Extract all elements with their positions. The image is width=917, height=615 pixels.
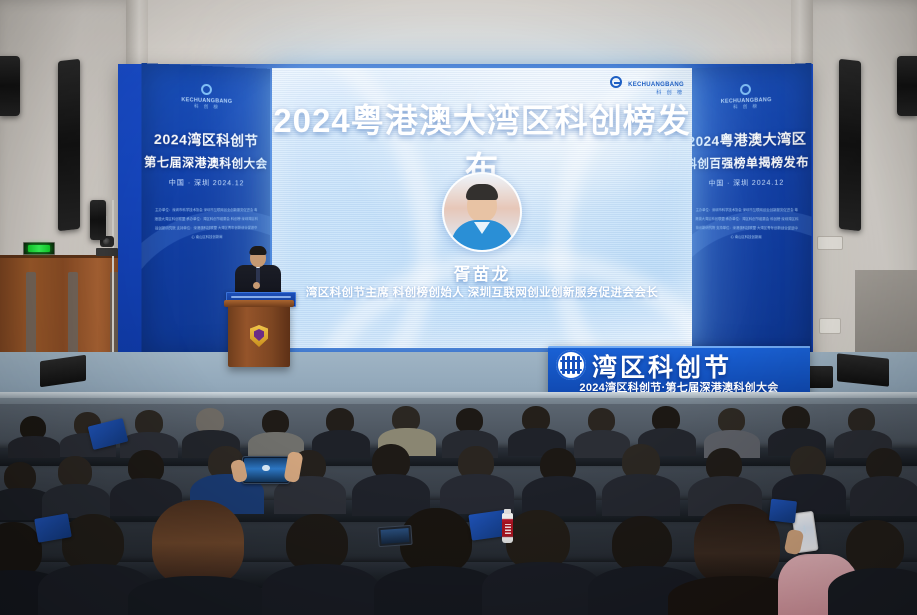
audience-head-front (506, 510, 570, 570)
audience-shoulders-front (828, 568, 917, 615)
pa-speaker-right (839, 59, 861, 231)
audience-head-front-long-hair (152, 500, 244, 586)
left-banner-fine-print: 主办单位：深圳市科学技术协会 深圳市互联网创业创新服务促进会 粤港澳大湾区科创联… (154, 206, 259, 242)
speaker-hair (250, 246, 267, 255)
audience-shoulders-front (482, 562, 602, 615)
right-banner-fine-print: 主办单位：深圳市科学技术协会 深圳市互联网创业创新服务促进会 粤港澳大湾区科创联… (695, 206, 800, 242)
stage-logo-banner: 湾区科创节 2024湾区科创节·第七届深港澳科创大会 (548, 346, 810, 398)
exit-sign-glow (28, 245, 50, 252)
screen-speaker-name: 胥苗龙 (272, 260, 692, 285)
logo-bar (577, 356, 580, 374)
podium-top (224, 300, 294, 307)
audience-shoulders (602, 474, 680, 516)
audience-shoulders (8, 436, 60, 458)
pa-speaker-corner-right (897, 56, 917, 116)
audience-head-front-long-hair (694, 504, 780, 586)
logo-crossbar (560, 360, 582, 362)
audience-shoulders-front (262, 564, 380, 615)
screen-logo-latin: KECHUANGBANG (628, 82, 684, 88)
right-banner-logo: KECHUANGBANG 科 创 榜 (683, 77, 811, 112)
institution-crest-icon (250, 325, 268, 347)
left-banner-line3: 中国 · 深圳 2024.12 (141, 177, 269, 188)
blue-folder-right[interactable] (769, 499, 797, 524)
kechuangbang-mark-icon (610, 76, 622, 88)
speaker-hand (253, 282, 260, 289)
left-banner-line2: 第七届深港澳科创大会 (141, 153, 269, 172)
smartphone-camera[interactable] (242, 456, 290, 484)
phone-screen (244, 458, 288, 482)
left-banner-logo: KECHUANGBANG 科 创 榜 (141, 77, 269, 112)
emergency-exit-sign (23, 242, 55, 255)
pa-speaker-corner-left (0, 56, 20, 116)
audience-shoulders (850, 476, 917, 516)
audience-head-front (846, 520, 904, 574)
audience-head-front (612, 516, 672, 572)
right-banner: KECHUANGBANG 科 创 榜 2024粤港澳大湾区 科创百强榜单揭榜发布… (683, 63, 811, 359)
right-banner-line3: 中国 · 深圳 2024.12 (683, 177, 811, 188)
wall-switch-plate-right[interactable] (819, 318, 841, 334)
pa-speaker-left (58, 59, 80, 231)
conference-photo-scene: KECHUANGBANG 科 创 榜 2024湾区科创节 第七届深港澳科创大会 … (0, 0, 917, 615)
speaker-portrait (442, 172, 522, 252)
bottle-cap (504, 509, 511, 514)
logo-bar (572, 356, 575, 374)
audience-area (0, 404, 917, 615)
left-banner-line1: 2024湾区科创节 (141, 128, 269, 151)
right-banner-line2: 科创百强榜单揭榜发布 (683, 153, 811, 172)
audience-shoulders (574, 430, 630, 458)
audience-shoulders-front (128, 576, 268, 615)
camera-bracket (96, 248, 118, 256)
portrait-hair (466, 184, 498, 200)
laptop[interactable] (377, 525, 412, 547)
led-screen: KECHUANGBANG 科 创 榜 2024粤港澳大湾区科创榜发布 胥苗龙 湾… (272, 68, 692, 348)
logo-crossbar (560, 369, 582, 371)
audience-shoulders (352, 474, 430, 516)
wanqu-kechuangjie-logo-icon (556, 350, 586, 380)
logo-bar (567, 356, 570, 374)
logo-bar (562, 356, 565, 374)
wooden-podium (228, 305, 290, 367)
podium-sign-text-line (231, 296, 291, 298)
pa-speaker-left-lower (90, 200, 106, 240)
right-banner-line1: 2024粤港澳大湾区 (683, 128, 811, 151)
bottle-label (502, 522, 513, 536)
stage-monitor-right (837, 353, 889, 386)
kechuangbang-mark-icon (201, 84, 212, 95)
audience-shoulders (42, 484, 110, 518)
kechuangbang-mark-icon (740, 84, 751, 95)
wall-socket-plate-right[interactable] (817, 236, 843, 250)
audience-shoulders (440, 474, 514, 514)
costa-coffee-bottle[interactable] (502, 513, 513, 543)
screen-logo: KECHUANGBANG 科 创 榜 (610, 74, 684, 96)
screen-speaker-role: 湾区科创节主席 科创榜创始人 深圳互联网创业创新服务促进会会长 (272, 284, 692, 300)
